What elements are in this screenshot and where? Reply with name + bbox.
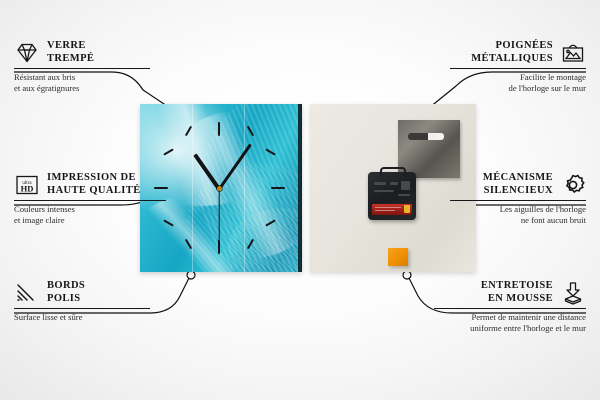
callout-divider [450, 200, 586, 201]
picture-hanger-icon [560, 41, 586, 65]
callout-divider [14, 68, 150, 69]
ultra-hd-icon: ultra HD [14, 173, 40, 197]
callout-title: POIGNÉES MÉTALLIQUES [471, 40, 553, 65]
callout-divider [434, 308, 586, 309]
battery [372, 204, 412, 215]
callout-subtitle: Surface lisse et sûre [14, 312, 150, 323]
callout-bords-polis[interactable]: BORDS POLIS Surface lisse et sûre [14, 280, 150, 323]
gear-icon [560, 173, 586, 197]
callout-header: BORDS POLIS [14, 280, 150, 305]
foam-spacer [388, 248, 408, 266]
hour-marker-3 [271, 187, 285, 189]
callout-header: ultra HD IMPRESSION DE HAUTE QUALITÉ [14, 172, 166, 197]
infographic-canvas: VERRE TREMPÉ Résistant aux bris et aux é… [0, 0, 600, 400]
callout-title: IMPRESSION DE HAUTE QUALITÉ [47, 172, 141, 197]
diamond-icon [14, 41, 40, 65]
mechanism-detail [401, 181, 410, 190]
hanger-slot [408, 133, 444, 140]
battery-label-line [375, 210, 395, 211]
svg-text:HD: HD [21, 183, 34, 193]
mechanism-detail [398, 194, 410, 196]
callout-divider [14, 200, 166, 201]
polished-edge-icon [14, 281, 40, 305]
clock-mechanism-box [368, 172, 416, 220]
callout-title: VERRE TREMPÉ [47, 40, 94, 65]
mechanism-hook [380, 167, 406, 177]
callout-subtitle: Résistant aux bris et aux égratignures [14, 72, 150, 93]
callout-subtitle: Couleurs intenses et image claire [14, 204, 166, 225]
metal-hanger-plate [398, 120, 460, 178]
callout-title: ENTRETOISE EN MOUSSE [481, 280, 553, 305]
callout-divider [450, 68, 586, 69]
callout-divider [14, 308, 150, 309]
glass-seam [244, 104, 245, 272]
callout-impression-haute-qualite[interactable]: ultra HD IMPRESSION DE HAUTE QUALITÉ Cou… [14, 172, 166, 225]
second-hand [218, 189, 219, 247]
glass-seam [192, 104, 193, 272]
callout-header: POIGNÉES MÉTALLIQUES [450, 40, 586, 65]
battery-label-line [375, 207, 401, 208]
callout-header: MÉCANISME SILENCIEUX [450, 172, 586, 197]
mechanism-detail [374, 182, 386, 185]
callout-subtitle: Les aiguilles de l'horloge ne font aucun… [450, 204, 586, 225]
clock-hands-pivot [217, 186, 222, 191]
glass-side-edge [298, 104, 302, 272]
mechanism-detail [374, 190, 394, 192]
foam-spacer-icon [560, 281, 586, 305]
callout-subtitle: Permet de maintenir une distance uniform… [434, 312, 586, 333]
callout-verre-trempe[interactable]: VERRE TREMPÉ Résistant aux bris et aux é… [14, 40, 150, 93]
battery-terminal [404, 205, 410, 213]
callout-title: BORDS POLIS [47, 280, 85, 305]
callout-subtitle: Facilite le montage de l'horloge sur le … [450, 72, 586, 93]
callout-header: VERRE TREMPÉ [14, 40, 150, 65]
callout-mecanisme-silencieux[interactable]: MÉCANISME SILENCIEUX Les aiguilles de l'… [450, 172, 586, 225]
callout-header: ENTRETOISE EN MOUSSE [434, 280, 586, 305]
callout-title: MÉCANISME SILENCIEUX [483, 172, 553, 197]
callout-poignees-metalliques[interactable]: POIGNÉES MÉTALLIQUES Facilite le montage… [450, 40, 586, 93]
hour-marker-12 [218, 122, 220, 136]
mechanism-detail [390, 182, 398, 185]
callout-entretoise-en-mousse[interactable]: ENTRETOISE EN MOUSSE Permet de maintenir… [434, 280, 586, 333]
